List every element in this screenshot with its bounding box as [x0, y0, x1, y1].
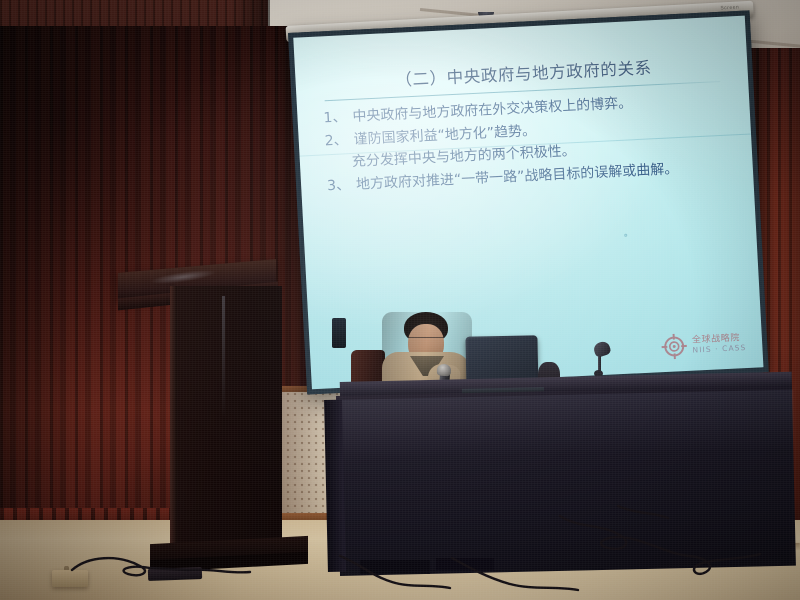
slide-logo-text: 全球战略院 NIIS · CASS [692, 334, 747, 354]
screen-surface: （二）中央政府与地方政府的关系 1、 中央政府与地方政府在外交决策权上的博弈。 … [293, 16, 763, 390]
slide-bullet-number: 1、 [323, 106, 347, 130]
slide-bullet-list: 1、 中央政府与地方政府在外交决策权上的博弈。 2、 谨防国家利益“地方化”趋势… [323, 88, 731, 198]
lecture-hall-photo: Screen （二）中央政府与地方政府的关系 1、 中央政府与地方政府在外交决策… [0, 0, 800, 600]
slide-logo-en: NIIS · CASS [692, 344, 746, 354]
slide-title: （二）中央政府与地方政府的关系 [321, 51, 726, 95]
slide-bullet-number: 2、 [324, 129, 348, 153]
slide-logo: 全球战略院 NIIS · CASS [661, 330, 747, 360]
desk-front-sheen [337, 390, 794, 460]
projector-artifact-dot [624, 234, 627, 237]
slide-bullet-number: 3、 [327, 174, 351, 198]
target-emblem-icon [661, 333, 688, 360]
lectern-highlight [222, 296, 225, 418]
side-monitor [332, 318, 346, 348]
stage-cables [0, 498, 800, 600]
presentation-slide: （二）中央政府与地方政府的关系 1、 中央政府与地方政府在外交决策权上的博弈。 … [293, 16, 763, 390]
